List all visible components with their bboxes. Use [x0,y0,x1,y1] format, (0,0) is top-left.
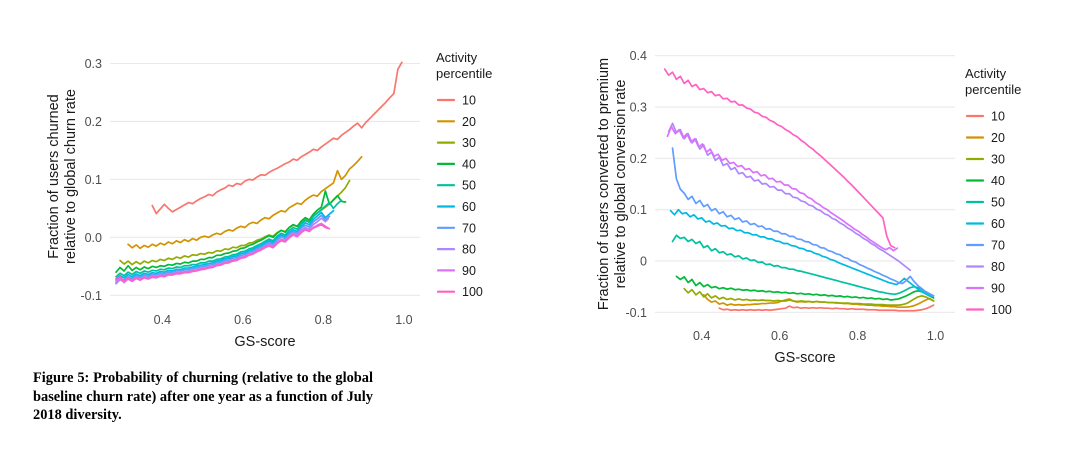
legend: Activitypercentile102030405060708090100 [965,66,1021,317]
legend-label-50: 50 [462,179,476,193]
legend-item-60[interactable]: 60 [967,217,1005,231]
y-axis-title-line2: relative to global churn rate [63,89,79,264]
legend-item-70[interactable]: 70 [967,239,1005,253]
legend-item-40[interactable]: 40 [967,174,1005,188]
figure-6-block: -0.100.10.20.30.40.40.60.81.0GS-scoreFra… [545,0,1080,380]
legend-label-60: 60 [991,217,1005,231]
gridlines-group [110,63,420,295]
y-axis-title-line1: Fraction of users churned [46,94,62,258]
legend-label-70: 70 [991,239,1005,253]
legend-title-line2: percentile [965,82,1021,97]
y-tick-label-2: 0.1 [85,173,102,187]
y-axis-ticks: -0.10.00.10.20.3 [80,57,102,303]
legend-item-30[interactable]: 30 [967,153,1005,167]
series-group [665,69,934,311]
legend-label-30: 30 [462,136,476,150]
y-axis-title: Fraction of users converted to premiumre… [596,58,629,310]
figure-6-column: -0.100.10.20.30.40.40.60.81.0GS-scoreFra… [545,0,1080,380]
x-tick-label-2: 0.8 [849,329,866,343]
series-line-10 [152,62,402,213]
series-line-90 [667,127,897,251]
x-tick-label-0: 0.4 [154,313,171,327]
legend-item-60[interactable]: 60 [438,200,476,214]
legend-item-50[interactable]: 50 [967,196,1005,210]
legend-label-10: 10 [991,110,1005,124]
legend-item-50[interactable]: 50 [438,179,476,193]
legend-item-40[interactable]: 40 [438,157,476,171]
legend-label-40: 40 [462,157,476,171]
x-tick-label-3: 1.0 [395,313,412,327]
legend-item-10[interactable]: 10 [438,94,476,108]
legend-item-20[interactable]: 20 [438,115,476,129]
legend-label-90: 90 [462,264,476,278]
gridlines-group [655,56,955,313]
figures-page: -0.10.00.10.20.30.40.60.81.0GS-scoreFrac… [0,0,1080,471]
y-tick-label-0: -0.1 [625,306,647,320]
legend-item-80[interactable]: 80 [967,260,1005,274]
series-line-60 [671,210,932,297]
y-tick-label-4: 0.3 [85,57,102,71]
legend-item-20[interactable]: 20 [967,131,1005,145]
x-axis-title: GS-score [234,334,295,350]
y-tick-label-1: 0.0 [85,231,102,245]
figure-5-chart-wrap: -0.10.00.10.20.30.40.60.81.0GS-scoreFrac… [0,0,545,360]
x-tick-label-0: 0.4 [693,329,710,343]
y-tick-label-0: -0.1 [80,289,102,303]
legend-item-90[interactable]: 90 [438,264,476,278]
y-tick-label-3: 0.2 [85,115,102,129]
legend-item-70[interactable]: 70 [438,221,476,235]
legend-title-line1: Activity [965,66,1007,81]
legend-label-20: 20 [462,115,476,129]
series-group [116,62,402,283]
figure-5-caption: Figure 5: Probability of churning (relat… [33,369,373,425]
legend-title-line1: Activity [436,50,478,65]
y-axis-title-line1: Fraction of users converted to premium [596,58,612,310]
figure-5-block: -0.10.00.10.20.30.40.60.81.0GS-scoreFrac… [0,0,545,360]
legend-label-80: 80 [462,243,476,257]
x-axis-ticks: 0.40.60.81.0 [693,329,944,343]
legend-item-100[interactable]: 100 [438,285,483,299]
legend-label-10: 10 [462,94,476,108]
legend: Activitypercentile102030405060708090100 [436,50,492,299]
y-axis-title: Fraction of users churnedrelative to glo… [46,89,79,264]
x-tick-label-1: 0.6 [771,329,788,343]
x-axis-title: GS-score [774,350,835,366]
figure-6-chart-wrap: -0.100.10.20.30.40.40.60.81.0GS-scoreFra… [545,0,1080,380]
x-tick-label-1: 0.6 [234,313,251,327]
figure-6-chart: -0.100.10.20.30.40.40.60.81.0GS-scoreFra… [545,0,1080,380]
y-tick-label-3: 0.2 [630,152,647,166]
x-tick-label-2: 0.8 [315,313,332,327]
y-axis-title-line2: relative to global conversion rate [613,80,629,289]
legend-item-100[interactable]: 100 [967,303,1012,317]
legend-label-20: 20 [991,131,1005,145]
series-line-20 [128,157,362,249]
series-line-50 [116,200,341,277]
y-tick-label-2: 0.1 [630,203,647,217]
legend-label-70: 70 [462,221,476,235]
legend-item-80[interactable]: 80 [438,243,476,257]
legend-label-40: 40 [991,174,1005,188]
series-line-80 [669,123,911,270]
y-tick-label-5: 0.4 [630,49,647,63]
legend-label-100: 100 [991,303,1012,317]
legend-item-10[interactable]: 10 [967,110,1005,124]
legend-label-90: 90 [991,282,1005,296]
figure-5-chart: -0.10.00.10.20.30.40.60.81.0GS-scoreFrac… [0,0,545,360]
x-axis-ticks: 0.40.60.81.0 [154,313,413,327]
y-tick-label-1: 0 [640,254,647,268]
legend-label-60: 60 [462,200,476,214]
x-tick-label-3: 1.0 [927,329,944,343]
y-tick-label-4: 0.3 [630,101,647,115]
legend-label-80: 80 [991,260,1005,274]
legend-label-100: 100 [462,285,483,299]
legend-label-50: 50 [991,196,1005,210]
legend-title-line2: percentile [436,66,492,81]
legend-label-30: 30 [991,153,1005,167]
legend-item-30[interactable]: 30 [438,136,476,150]
figure-5-column: -0.10.00.10.20.30.40.60.81.0GS-scoreFrac… [0,0,545,360]
legend-item-90[interactable]: 90 [967,282,1005,296]
